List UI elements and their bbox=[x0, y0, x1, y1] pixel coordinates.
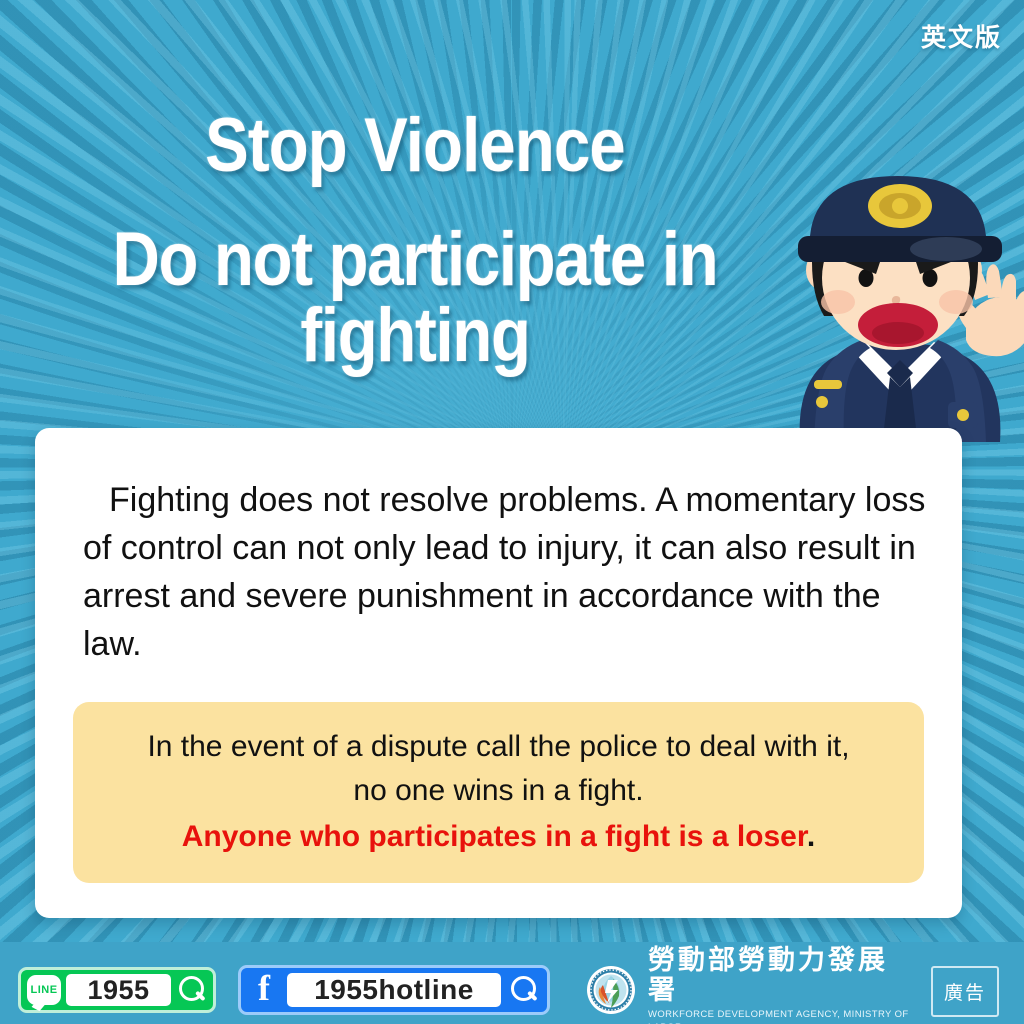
title-line-2: Do not participate in fighting bbox=[58, 222, 772, 374]
cap-badge-icon bbox=[868, 184, 932, 228]
body-paragraph: Fighting does not resolve problems. A mo… bbox=[83, 476, 928, 668]
agency-text: 勞動部勞動力發展署 WORKFORCE DEVELOPMENT AGENCY, … bbox=[648, 946, 916, 1024]
language-badge: 英文版 bbox=[921, 18, 1002, 54]
ad-label-box: 廣告 bbox=[931, 966, 999, 1017]
callout-highlight-text: Anyone who participates in a fight is a … bbox=[182, 820, 807, 853]
agency-name-en: WORKFORCE DEVELOPMENT AGENCY, MINISTRY O… bbox=[648, 1008, 916, 1024]
facebook-id-value: 1955hotline bbox=[314, 974, 474, 1006]
ministry-of-labor-emblem bbox=[586, 965, 636, 1015]
agency-name-zh: 勞動部勞動力發展署 bbox=[648, 946, 916, 1006]
police-officer-illustration bbox=[770, 150, 1024, 442]
callout-line-3: Anyone who participates in a fight is a … bbox=[182, 813, 815, 861]
line-icon: LINE bbox=[27, 975, 61, 1005]
search-icon[interactable] bbox=[509, 975, 539, 1005]
callout-line-1: In the event of a dispute call the polic… bbox=[147, 725, 849, 769]
line-id-field: 1955 bbox=[66, 974, 171, 1006]
ad-label-text: 廣告 bbox=[944, 978, 986, 1005]
poster-root: 英文版 Stop Violence Do not participate in … bbox=[0, 0, 1024, 1024]
title-line-1: Stop Violence bbox=[58, 108, 772, 184]
content-card: Fighting does not resolve problems. A mo… bbox=[35, 428, 962, 918]
callout-period: . bbox=[807, 820, 815, 853]
callout-box: In the event of a dispute call the polic… bbox=[73, 702, 924, 883]
facebook-icon: f bbox=[249, 973, 279, 1007]
line-badge[interactable]: LINE 1955 bbox=[18, 967, 216, 1013]
line-icon-label: LINE bbox=[30, 984, 57, 996]
search-icon[interactable] bbox=[177, 975, 207, 1005]
line-id-value: 1955 bbox=[87, 975, 149, 1006]
facebook-id-field: 1955hotline bbox=[287, 973, 501, 1007]
agency-lockup: 勞動部勞動力發展署 WORKFORCE DEVELOPMENT AGENCY, … bbox=[586, 961, 916, 1019]
facebook-badge[interactable]: f 1955hotline bbox=[238, 965, 550, 1015]
callout-line-2: no one wins in a fight. bbox=[353, 769, 643, 813]
